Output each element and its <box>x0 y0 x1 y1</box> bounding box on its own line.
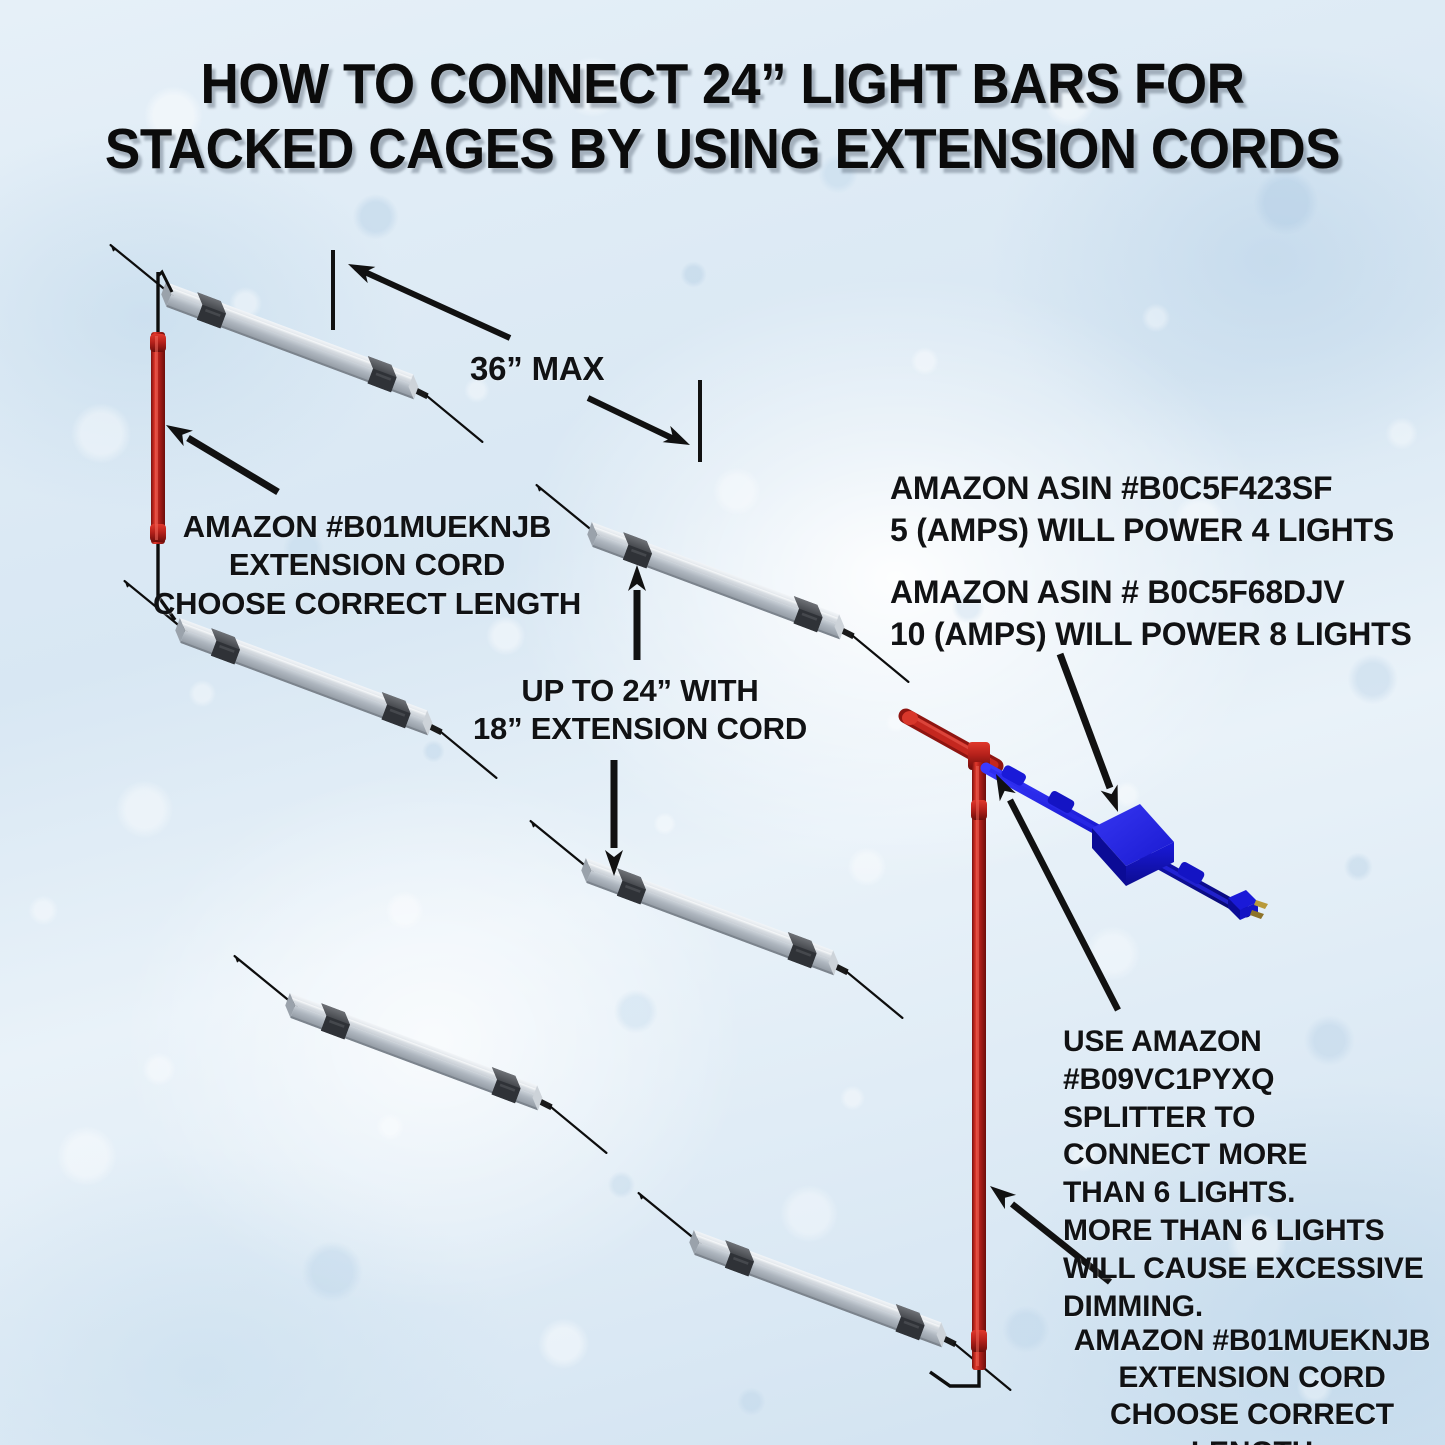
arrow-dim-36-lower <box>588 380 700 462</box>
label-up-to-24-extension: UP TO 24” WITH 18” EXTENSION CORD <box>470 672 810 749</box>
label-36-max: 36” MAX <box>470 350 604 389</box>
label-extension-cord-bottom: AMAZON #B01MUEKNJB EXTENSION CORD CHOOSE… <box>1062 1322 1442 1445</box>
page-title: HOW TO CONNECT 24” LIGHT BARS FOR STACKE… <box>51 52 1395 182</box>
arrow-dim-36-upper <box>333 250 510 338</box>
arrow-dim-24-up <box>628 565 646 660</box>
label-splitter-instructions: USE AMAZON #B09VC1PYXQ SPLITTER TO CONNE… <box>1063 1023 1445 1325</box>
extension-cord-right <box>930 762 987 1386</box>
label-asin-10-amp: AMAZON ASIN # B0C5F68DJV 10 (AMPS) WILL … <box>890 572 1412 655</box>
arrow-power-supply <box>1060 654 1126 815</box>
infographic-page: HOW TO CONNECT 24” LIGHT BARS FOR STACKE… <box>0 0 1445 1445</box>
label-extension-cord-left: AMAZON #B01MUEKNJB EXTENSION CORD CHOOSE… <box>152 508 582 623</box>
light-bar-row2-right <box>512 821 922 1018</box>
arrow-dim-24-down <box>605 760 623 876</box>
light-bar-bottom <box>216 956 626 1153</box>
light-bar-row3-right <box>620 1193 1030 1390</box>
label-asin-5-amp: AMAZON ASIN #B0C5F423SF 5 (AMPS) WILL PO… <box>890 468 1394 551</box>
splitter-junction <box>902 711 996 770</box>
arrow-cord-left <box>161 417 278 492</box>
